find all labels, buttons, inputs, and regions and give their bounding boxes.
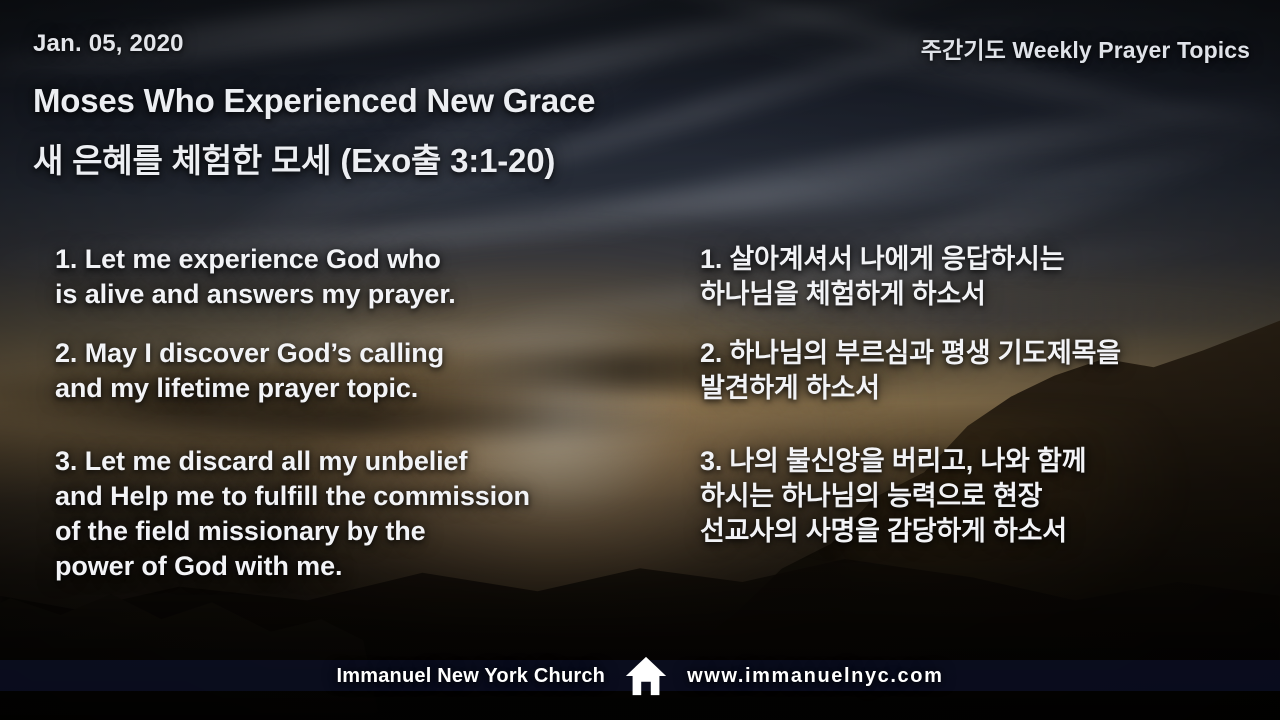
prayer-point-en-3: 3. Let me discard all my unbelief and He… bbox=[55, 444, 530, 584]
prayer-point-en-2: 2. May I discover God’s calling and my l… bbox=[55, 336, 444, 406]
slide-title-english: Moses Who Experienced New Grace bbox=[33, 82, 595, 120]
slide-content: Jan. 05, 2020 주간기도 Weekly Prayer Topics … bbox=[0, 0, 1280, 720]
prayer-topics-slide: Jan. 05, 2020 주간기도 Weekly Prayer Topics … bbox=[0, 0, 1280, 720]
footer: Immanuel New York Church www.immanuelnyc… bbox=[0, 640, 1280, 712]
prayer-point-ko-3: 3. 나의 불신앙을 버리고, 나와 함께 하시는 하나님의 능력으로 현장 선… bbox=[700, 444, 1086, 549]
slide-date: Jan. 05, 2020 bbox=[33, 30, 184, 58]
prayer-point-en-1: 1. Let me experience God who is alive an… bbox=[55, 242, 456, 312]
footer-church-name: Immanuel New York Church bbox=[337, 665, 606, 688]
home-icon bbox=[623, 653, 669, 699]
slide-title-korean: 새 은혜를 체험한 모세 (Exo출 3:1-20) bbox=[33, 134, 555, 182]
prayer-point-ko-1: 1. 살아계셔서 나에게 응답하시는 하나님을 체험하게 하소서 bbox=[700, 242, 1064, 312]
prayer-point-ko-2: 2. 하나님의 부르심과 평생 기도제목을 발견하게 하소서 bbox=[700, 336, 1121, 406]
footer-website-url: www.immanuelnyc.com bbox=[687, 665, 943, 688]
slide-header-label: 주간기도 Weekly Prayer Topics bbox=[921, 31, 1250, 65]
